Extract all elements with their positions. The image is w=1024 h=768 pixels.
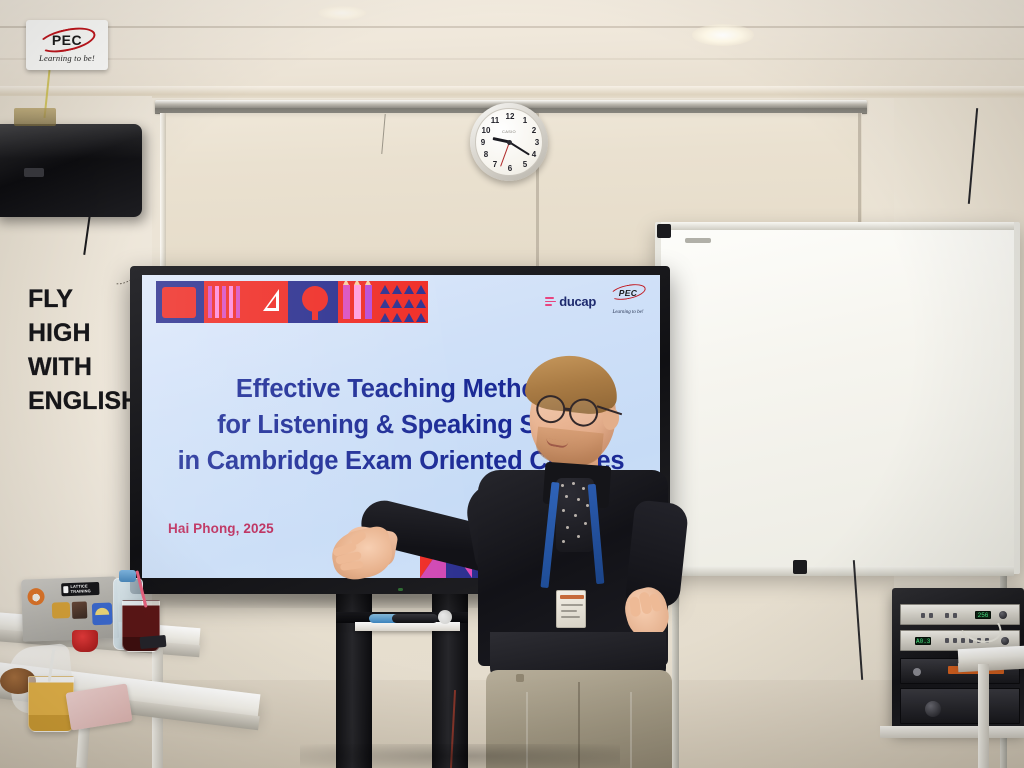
glasses-temple	[597, 405, 622, 415]
pec-wall-plaque: PEC Learning to be!	[26, 20, 108, 70]
deco-red-square	[162, 287, 196, 318]
rack-shelf	[880, 726, 1024, 738]
clock-minute-hand	[508, 141, 529, 155]
clock-brand: CASIO	[476, 129, 542, 134]
clock-numeral-4: 4	[528, 151, 540, 159]
slide-subtitle: Hai Phong, 2025	[168, 521, 274, 536]
rack-knob[interactable]	[913, 668, 921, 676]
blind-edge	[160, 113, 166, 273]
gold-badge-sticker	[52, 602, 71, 619]
rack-button[interactable]	[929, 613, 933, 618]
glasses-bridge	[564, 408, 571, 411]
jbl-logo	[24, 168, 44, 177]
ceiling-downlight	[692, 24, 754, 46]
right-table-leg	[978, 664, 989, 768]
whiteboard-clip[interactable]	[685, 238, 711, 243]
pec-slide-mark: PEC	[610, 285, 646, 300]
ceiling-seam	[0, 58, 1024, 60]
whiteboard-top-rail	[661, 222, 1014, 230]
whiteboard-corner	[793, 560, 807, 574]
clock-numeral-3: 3	[531, 139, 543, 147]
speaker-bracket	[14, 108, 56, 126]
deco-triangle-cutout	[267, 296, 276, 308]
lattice-mark-icon	[63, 586, 68, 593]
pec-slide-logo: PEC Learning to be!	[610, 285, 646, 318]
deco-stripe	[236, 286, 240, 318]
rack-button[interactable]	[945, 613, 949, 618]
slide-header-decoration	[156, 281, 428, 323]
clock-numeral-12: 12	[504, 113, 516, 121]
whiteboard-corner	[657, 224, 671, 238]
rack-button[interactable]	[953, 613, 957, 618]
educap-mark-icon	[545, 297, 556, 305]
blue-arch-sticker	[92, 603, 113, 626]
slide-logo-row: ducap PEC Learning to be!	[545, 285, 646, 318]
ceiling	[0, 0, 1024, 98]
deco-stripe	[229, 286, 233, 318]
deco-pencil-icon	[354, 285, 361, 319]
clock-numeral-1: 1	[519, 117, 531, 125]
floor-shadow	[300, 744, 620, 768]
presenter	[330, 352, 690, 768]
rack-button[interactable]	[945, 638, 949, 643]
photo-sticker	[72, 601, 88, 619]
clock-numeral-6: 6	[504, 165, 516, 173]
deco-circle-icon	[302, 286, 328, 312]
presenter-belt-loop	[516, 674, 524, 682]
clock-bezel: 12 1 2 3 4 5 6 7 8 9 10 11 CASIO	[470, 103, 548, 181]
glasses-lens-right	[568, 397, 600, 428]
deco-stripe	[215, 286, 219, 318]
educap-wordmark: ducap	[559, 294, 596, 309]
rack-display: A0.3	[915, 637, 931, 645]
clock-numeral-11: 11	[489, 117, 501, 125]
lattice-label: LATTICE TRAINING	[70, 584, 99, 594]
deco-square-block	[156, 281, 204, 323]
classroom-photo-scene: PEC Learning to be! FLY HIGH WITH ENGLIS…	[0, 0, 1024, 768]
deco-magnifier-block	[294, 281, 338, 323]
wall-clock: 12 1 2 3 4 5 6 7 8 9 10 11 CASIO	[470, 99, 548, 183]
deco-stripes-block	[204, 281, 256, 323]
mountain-badge-sticker	[27, 588, 45, 606]
educap-logo: ducap	[545, 294, 596, 309]
rack-button[interactable]	[953, 638, 957, 643]
ceiling-downlight	[318, 6, 366, 20]
pec-slide-tagline: Learning to be!	[612, 310, 643, 315]
rack-knob[interactable]	[999, 611, 1007, 619]
deco-ruler-block	[256, 281, 288, 323]
phone[interactable]	[140, 635, 167, 649]
ceiling-seam	[0, 26, 1024, 28]
rack-display-value: A0.3	[916, 638, 930, 645]
clock-numeral-5: 5	[519, 161, 531, 169]
trouser-crease	[630, 692, 632, 768]
rack-unit-subwoofer	[900, 688, 1020, 724]
deco-stripe	[208, 286, 212, 318]
clock-second-hand	[500, 142, 510, 167]
lattice-training-sticker: LATTICE TRAINING	[61, 582, 99, 596]
jbl-wall-speaker	[0, 124, 142, 217]
clock-numeral-7: 7	[489, 161, 501, 169]
rack-button[interactable]	[961, 638, 965, 643]
deco-circle-stem	[312, 311, 318, 320]
whiteboard[interactable]	[655, 222, 1020, 574]
clock-center-pin	[507, 140, 512, 145]
presenter-left-hand	[328, 524, 397, 583]
rack-button[interactable]	[921, 613, 925, 618]
deco-pencil-icon	[343, 285, 350, 319]
clock-face: 12 1 2 3 4 5 6 7 8 9 10 11 CASIO	[475, 108, 543, 176]
rack-knob[interactable]	[1001, 637, 1009, 645]
pec-tagline: Learning to be!	[39, 53, 95, 63]
deco-zigzag-block	[380, 281, 428, 323]
deco-stripe	[222, 286, 226, 318]
clock-numeral-8: 8	[480, 151, 492, 159]
whiteboard-bottom-rail	[661, 566, 1014, 576]
deco-pencil-icon	[365, 285, 372, 319]
pec-letters: PEC	[52, 32, 82, 48]
pec-mark: PEC	[38, 28, 96, 52]
bottle-cap[interactable]	[119, 570, 136, 582]
presenter-id-badge	[556, 590, 586, 628]
pec-slide-letters: PEC	[619, 288, 637, 298]
laptop-with-stickers[interactable]: LATTICE TRAINING	[21, 576, 119, 641]
red-container[interactable]	[72, 630, 98, 652]
clock-numeral-9: 9	[477, 139, 489, 147]
badge-header-strip	[560, 595, 584, 599]
rack-driver	[925, 701, 941, 717]
speaker-highlight	[0, 124, 142, 159]
deco-pencils-block	[338, 281, 380, 323]
whiteboard-surface[interactable]	[661, 228, 1014, 568]
glasses-lens-left	[535, 394, 567, 425]
